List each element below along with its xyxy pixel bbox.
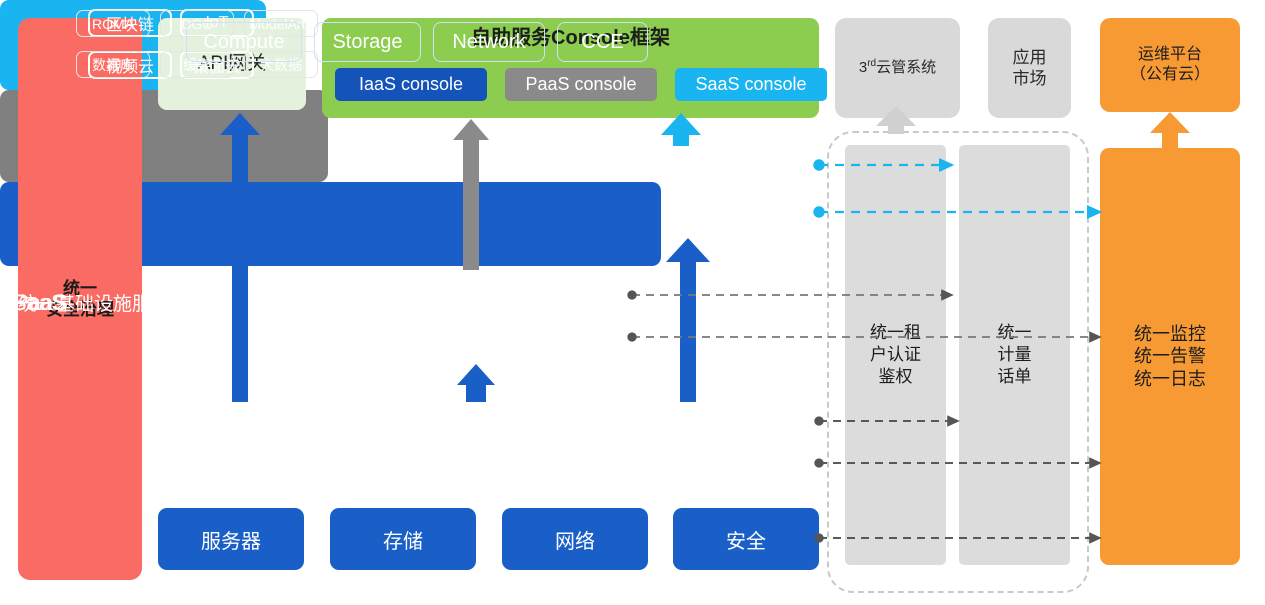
- app-market-line1: 应用: [1013, 47, 1047, 68]
- infrastructure-service-panel: 统一基础设施服务 Compute Storage Network CCE: [0, 182, 661, 266]
- iaas-console-button[interactable]: IaaS console: [335, 68, 487, 101]
- ops-platform-line1: 运维平台: [1130, 45, 1210, 65]
- arrow-infra-to-saas: [666, 238, 710, 402]
- app-market-box: 应用 市场: [988, 18, 1071, 118]
- app-market-line2: 市场: [1013, 68, 1047, 89]
- authn-line3: 鉴权: [870, 366, 921, 388]
- billing-line3: 话单: [998, 366, 1032, 388]
- ops-platform-line2: （公有云）: [1130, 65, 1210, 85]
- saas-console-button[interactable]: SaaS console: [675, 68, 827, 101]
- paas-console-button[interactable]: PaaS console: [505, 68, 657, 101]
- architecture-diagram: 统一 安全治理 API网关 自助服务Console框架 IaaS console…: [0, 0, 1265, 605]
- hardware-box-security[interactable]: 安全: [673, 508, 819, 570]
- infra-chip-storage[interactable]: Storage: [314, 22, 421, 62]
- hardware-box-storage[interactable]: 存储: [330, 508, 476, 570]
- arrow-ops-column-to-ops-platform: [1150, 112, 1190, 148]
- billing-line2: 计量: [998, 344, 1032, 366]
- third-party-cloud-label: 3rd云管系统: [859, 58, 936, 78]
- third-party-cloud-management-box: 3rd云管系统: [835, 18, 960, 118]
- shared-service-column-authentication: 统一租 户认证 鉴权: [845, 145, 946, 565]
- authn-line2: 户认证: [870, 344, 921, 366]
- infrastructure-service-label: 统一基础设施服务: [18, 0, 170, 605]
- infra-chip-compute[interactable]: Compute: [186, 22, 302, 62]
- hardware-box-network[interactable]: 网络: [502, 508, 648, 570]
- ops-monitoring-column: 统一监控 统一告警 统一日志: [1100, 148, 1240, 565]
- arrow-infra-to-paas: [457, 364, 495, 402]
- shared-service-column-billing: 统一 计量 话单: [959, 145, 1070, 565]
- ops-column-line1: 统一监控: [1134, 323, 1206, 346]
- third-party-superscript: rd: [867, 58, 876, 69]
- ops-platform-box: 运维平台 （公有云）: [1100, 18, 1240, 112]
- ops-column-line2: 统一告警: [1134, 345, 1206, 368]
- infra-chip-network[interactable]: Network: [433, 22, 545, 62]
- authn-line1: 统一租: [870, 322, 921, 344]
- hardware-box-server[interactable]: 服务器: [158, 508, 304, 570]
- billing-line1: 统一: [998, 322, 1032, 344]
- infra-chip-cce[interactable]: CCE: [557, 22, 648, 62]
- third-party-suffix: 云管系统: [876, 59, 936, 76]
- third-party-prefix: 3: [859, 59, 867, 76]
- ops-column-line3: 统一日志: [1134, 368, 1206, 391]
